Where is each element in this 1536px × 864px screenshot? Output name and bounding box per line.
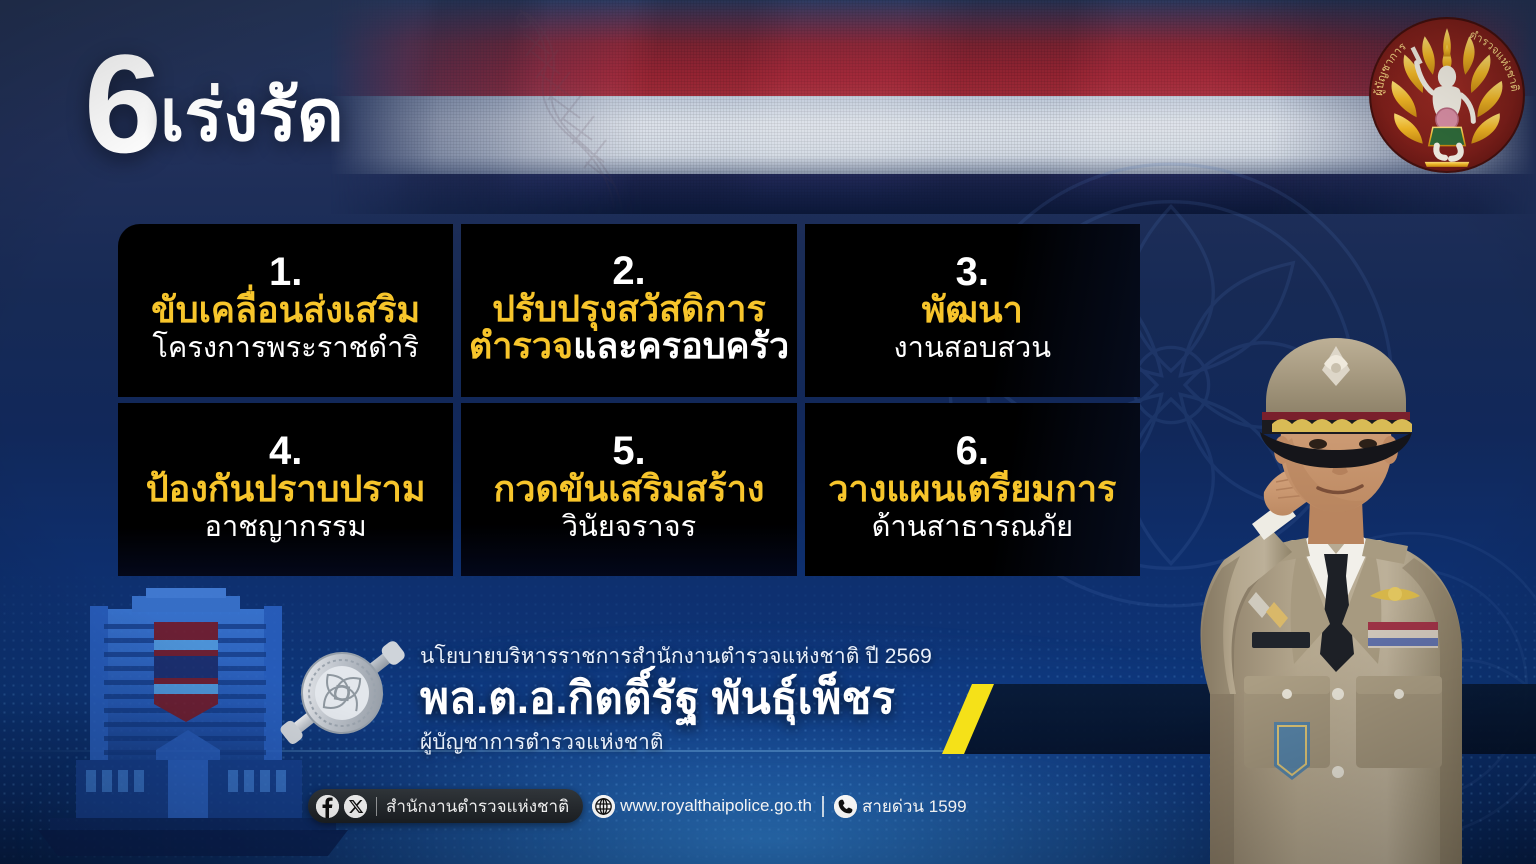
card-subtext: ด้านสาธารณภัย <box>872 510 1074 544</box>
card-subtext: งานสอบสวน <box>894 331 1052 365</box>
card-subtext: โครงการพระราชดำริ <box>152 331 419 365</box>
card-number: 2. <box>612 251 645 292</box>
card-subtext: อาชญากรรม <box>205 510 367 544</box>
phone-icon[interactable] <box>834 795 857 818</box>
commissioner-name: พล.ต.อ.กิตติ์รัฐ พันธุ์เพ็ชร <box>420 674 1000 724</box>
card-number: 1. <box>269 252 302 293</box>
social-pill[interactable]: สำนักงานตำรวจแห่งชาติ <box>308 789 583 823</box>
hotline-text[interactable]: สายด่วน 1599 <box>862 793 967 820</box>
ceremonial-mace-icon <box>262 618 422 768</box>
priority-card-2[interactable]: 2. ปรับปรุงสวัสดิการ ตำรวจและครอบครัว <box>461 224 796 397</box>
facebook-icon[interactable] <box>316 795 339 818</box>
priority-card-6[interactable]: 6. วางแผนเตรียมการ ด้านสาธารณภัย <box>805 403 1140 576</box>
card-heading: กวดขันเสริมสร้าง <box>493 469 764 509</box>
footer-divider <box>822 796 824 817</box>
card-heading-second-line: ตำรวจและครอบครัว <box>469 326 789 366</box>
credit-block: นโยบายบริหารราชการสำนักงานตำรวจแห่งชาติ … <box>420 640 1000 759</box>
policy-line: นโยบายบริหารราชการสำนักงานตำรวจแห่งชาติ … <box>420 640 1000 673</box>
priority-card-grid: 1. ขับเคลื่อนส่งเสริม โครงการพระราชดำริ … <box>118 224 1140 576</box>
card-heading: ป้องกันปราบปราม <box>146 469 426 509</box>
infographic-poster: 6 เร่งรัด <box>0 0 1536 864</box>
priority-card-5[interactable]: 5. กวดขันเสริมสร้าง วินัยจราจร <box>461 403 796 576</box>
priority-card-3[interactable]: 3. พัฒนา งานสอบสวน <box>805 224 1140 397</box>
website-segment[interactable]: www.royalthaipolice.go.th สายด่วน 1599 <box>592 793 966 820</box>
card-heading: พัฒนา <box>922 290 1023 330</box>
card-number: 4. <box>269 431 302 472</box>
priority-card-4[interactable]: 4. ป้องกันปราบปราม อาชญากรรม <box>118 403 453 576</box>
title-number: 6 <box>84 44 156 164</box>
title-word: เร่งรัด <box>160 80 344 152</box>
card-heading: วางแผนเตรียมการ <box>828 469 1116 509</box>
royal-thai-police-seal-icon: ผู้บัญชาการ ตำรวจแห่งชาติ <box>1366 14 1528 176</box>
x-twitter-icon[interactable] <box>344 795 367 818</box>
priority-card-1[interactable]: 1. ขับเคลื่อนส่งเสริม โครงการพระราชดำริ <box>118 224 453 397</box>
thai-flag-background <box>330 0 1536 214</box>
card-heading: ขับเคลื่อนส่งเสริม <box>151 290 420 330</box>
card-number: 3. <box>956 252 989 293</box>
website-url[interactable]: www.royalthaipolice.go.th <box>620 796 812 816</box>
globe-icon[interactable] <box>592 795 615 818</box>
social-name: สำนักงานตำรวจแห่งชาติ <box>386 793 569 820</box>
page-title: 6 เร่งรัด <box>84 44 344 164</box>
card-subtext: วินัยจราจร <box>562 510 697 544</box>
card-number: 6. <box>956 431 989 472</box>
commissioner-role: ผู้บัญชาการตำรวจแห่งชาติ <box>420 726 1000 759</box>
officer-photo <box>1124 224 1536 864</box>
card-heading: ปรับปรุงสวัสดิการ <box>492 289 766 329</box>
card-heading-white: และครอบครัว <box>573 325 789 366</box>
card-number: 5. <box>612 431 645 472</box>
footer-contact-bar: สำนักงานตำรวจแห่งชาติ www.royalthaipolic… <box>308 789 967 823</box>
card-heading-gold: ตำรวจ <box>469 325 573 366</box>
pill-divider <box>376 797 377 816</box>
